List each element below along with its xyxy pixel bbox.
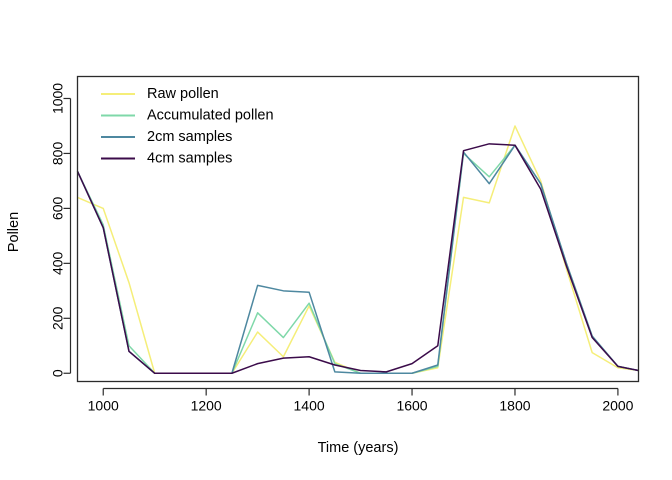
y-axis-title: Pollen [6,212,22,252]
x-tick-label-1: 1200 [191,398,222,414]
x-tick-label-0: 1000 [88,398,119,414]
y-tick-label-0: 0 [50,369,66,377]
chart-svg: 100012001400160018002000 020040060080010… [0,0,672,480]
y-tick-label-3: 600 [50,196,66,220]
y-tick-label-4: 800 [50,142,66,166]
y-tick-label-1: 200 [50,306,66,330]
y-tick-label-5: 1000 [50,83,66,114]
x-axis-title: Time (years) [318,440,399,456]
legend-label-3: 4cm samples [147,151,232,167]
x-tick-label-2: 1400 [294,398,325,414]
legend-label-0: Raw pollen [147,86,219,102]
legend-label-2: 2cm samples [147,129,232,145]
legend-label-1: Accumulated pollen [147,108,274,124]
x-tick-label-5: 2000 [602,398,633,414]
x-tick-label-3: 1600 [396,398,427,414]
x-tick-label-4: 1800 [499,398,530,414]
y-tick-label-2: 400 [50,251,66,275]
pollen-time-series-chart: 100012001400160018002000 020040060080010… [0,0,672,480]
